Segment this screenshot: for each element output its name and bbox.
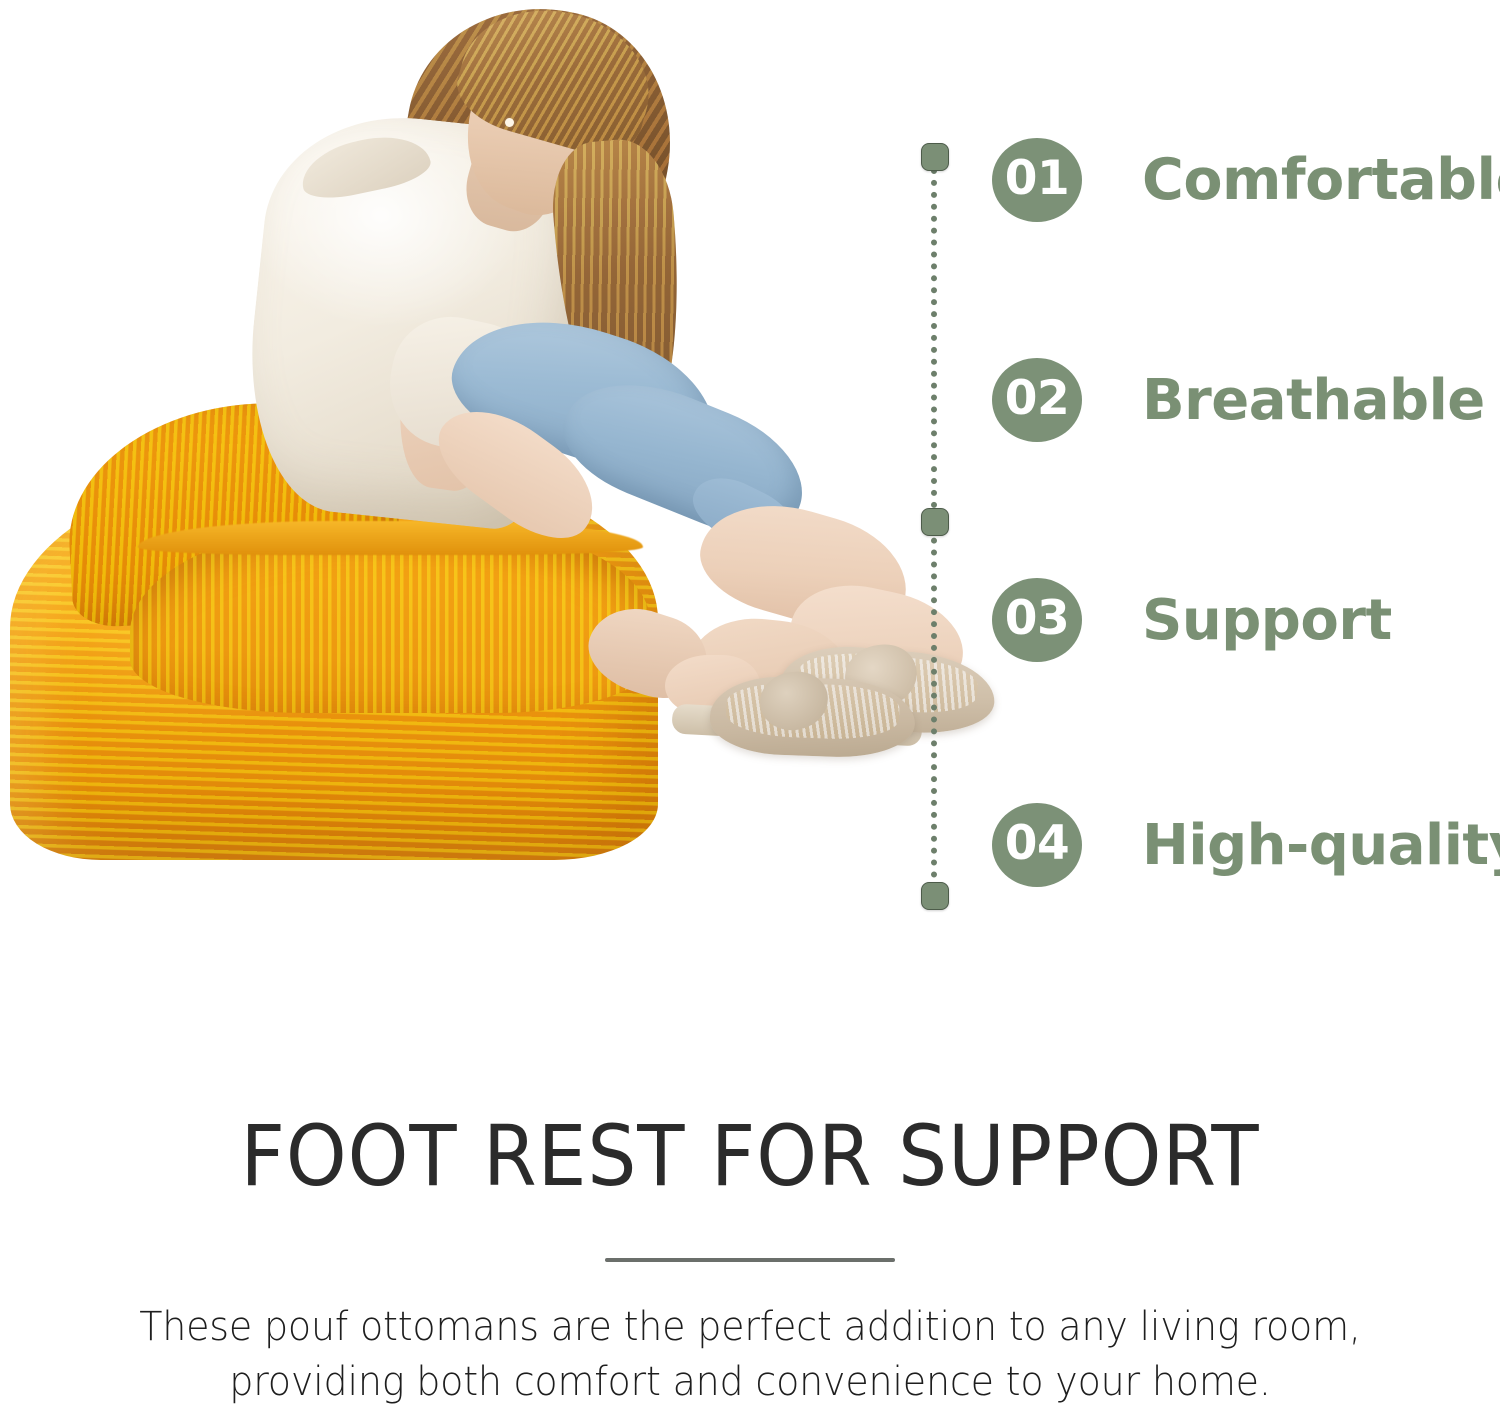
feature-item-breathable: 02 Breathable [992,352,1485,448]
feature-item-comfortable: 01 Comfortable [992,132,1500,228]
feature-number-badge-04: 04 [992,803,1082,887]
feature-label-comfortable: Comfortable [1142,147,1500,213]
feature-label-support: Support [1142,588,1392,653]
feature-label-breathable: Breathable [1142,368,1485,433]
feature-label-high-quality: High-quality [1142,813,1500,878]
feature-number-badge-03: 03 [992,578,1082,662]
page-title: FOOT REST FOR SUPPORT [60,1080,1440,1198]
timeline-node-top [921,143,949,171]
feature-number-badge-02: 02 [992,358,1082,442]
timeline-node-middle [921,508,949,536]
feature-number-badge-01: 01 [992,138,1082,222]
feature-item-high-quality: 04 High-quality [992,797,1500,893]
timeline-node-bottom [921,882,949,910]
product-description: These pouf ottomans are the perfect addi… [76,1300,1425,1410]
divider [605,1258,895,1262]
model-earring [505,118,514,127]
feature-list: 01 Comfortable 02 Breathable 03 Support … [900,0,1500,960]
description-line-2: providing both comfort and convenience t… [76,1355,1425,1410]
bottom-text-block: FOOT REST FOR SUPPORT These pouf ottoman… [0,1080,1500,1410]
description-line-1: These pouf ottomans are the perfect addi… [76,1300,1425,1355]
feature-item-support: 03 Support [992,572,1392,668]
product-photo [0,0,900,960]
